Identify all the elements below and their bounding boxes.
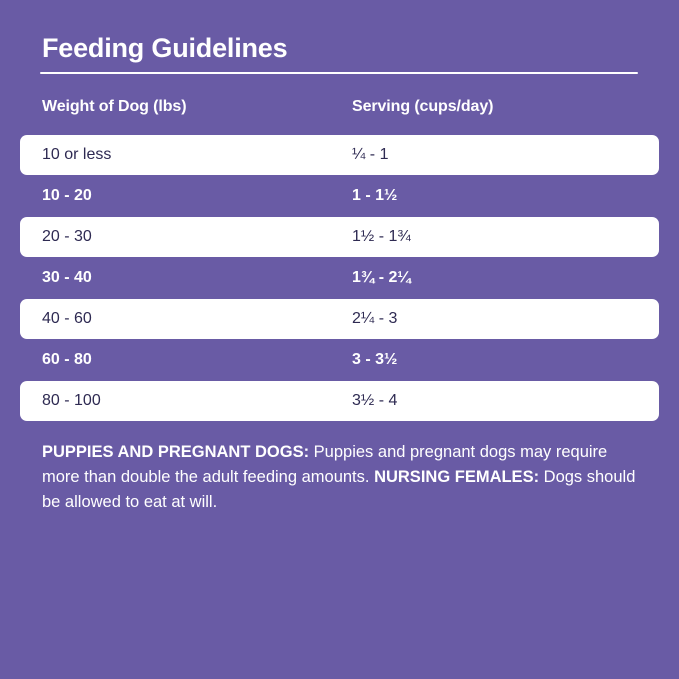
cell-weight: 80 - 100 — [42, 381, 101, 421]
cell-weight: 10 - 20 — [42, 176, 92, 216]
table-row: 10 - 201 - 1½ — [20, 176, 659, 216]
cell-serving: 1 - 1½ — [352, 176, 397, 216]
cell-serving: 1½ - 1¾ — [352, 217, 411, 257]
table-header-row: Weight of Dog (lbs) Serving (cups/day) — [0, 96, 679, 130]
table-row: 20 - 301½ - 1¾ — [20, 217, 659, 257]
column-header-weight: Weight of Dog (lbs) — [42, 96, 186, 118]
table-row: 40 - 602¼ - 3 — [20, 299, 659, 339]
table-row: 10 or less¼ - 1 — [20, 135, 659, 175]
title-divider — [40, 72, 638, 74]
table-body: 10 or less¼ - 110 - 201 - 1½20 - 301½ - … — [0, 135, 679, 421]
cell-weight: 60 - 80 — [42, 340, 92, 380]
page-title: Feeding Guidelines — [42, 31, 287, 65]
cell-serving: 1¾ - 2¼ — [352, 258, 411, 298]
footnote-label-nursing: NURSING FEMALES: — [374, 468, 539, 486]
cell-serving: 2¼ - 3 — [352, 299, 397, 339]
cell-weight: 10 or less — [42, 135, 111, 175]
cell-weight: 20 - 30 — [42, 217, 92, 257]
cell-weight: 30 - 40 — [42, 258, 92, 298]
table-row: 60 - 803 - 3½ — [20, 340, 659, 380]
feeding-guidelines-table: Weight of Dog (lbs) Serving (cups/day) 1… — [0, 96, 679, 422]
table-row: 80 - 1003½ - 4 — [20, 381, 659, 421]
cell-serving: 3½ - 4 — [352, 381, 397, 421]
cell-serving: 3 - 3½ — [352, 340, 397, 380]
table-row: 30 - 401¾ - 2¼ — [20, 258, 659, 298]
footnote: PUPPIES AND PREGNANT DOGS: Puppies and p… — [42, 440, 642, 515]
cell-serving: ¼ - 1 — [352, 135, 388, 175]
column-header-serving: Serving (cups/day) — [352, 96, 493, 118]
cell-weight: 40 - 60 — [42, 299, 92, 339]
footnote-label-puppies: PUPPIES AND PREGNANT DOGS: — [42, 443, 309, 461]
feeding-guidelines-panel: Feeding Guidelines Weight of Dog (lbs) S… — [0, 0, 679, 679]
